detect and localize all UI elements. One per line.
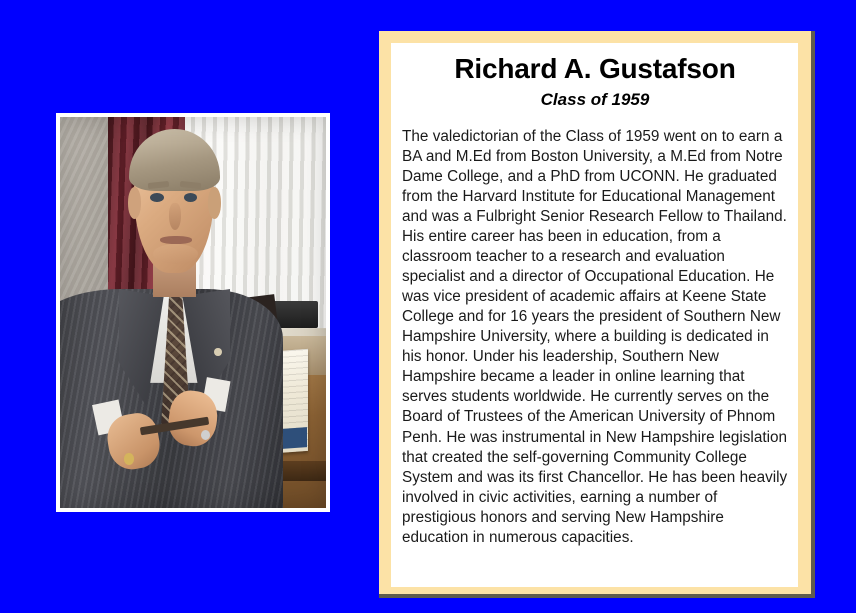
portrait-photo-frame (56, 113, 330, 512)
person-name: Richard A. Gustafson (402, 54, 788, 85)
biography-card: Richard A. Gustafson Class of 1959 The v… (379, 31, 815, 598)
ear-right (208, 187, 221, 218)
biography-text: The valedictorian of the Class of 1959 w… (402, 127, 788, 548)
biography-card-inner: Richard A. Gustafson Class of 1959 The v… (391, 43, 798, 587)
class-subtitle: Class of 1959 (402, 90, 788, 110)
ear-left (128, 187, 141, 218)
chin (153, 244, 198, 264)
eye-left (150, 193, 163, 202)
mouth (160, 236, 192, 244)
portrait-photo (60, 117, 326, 508)
